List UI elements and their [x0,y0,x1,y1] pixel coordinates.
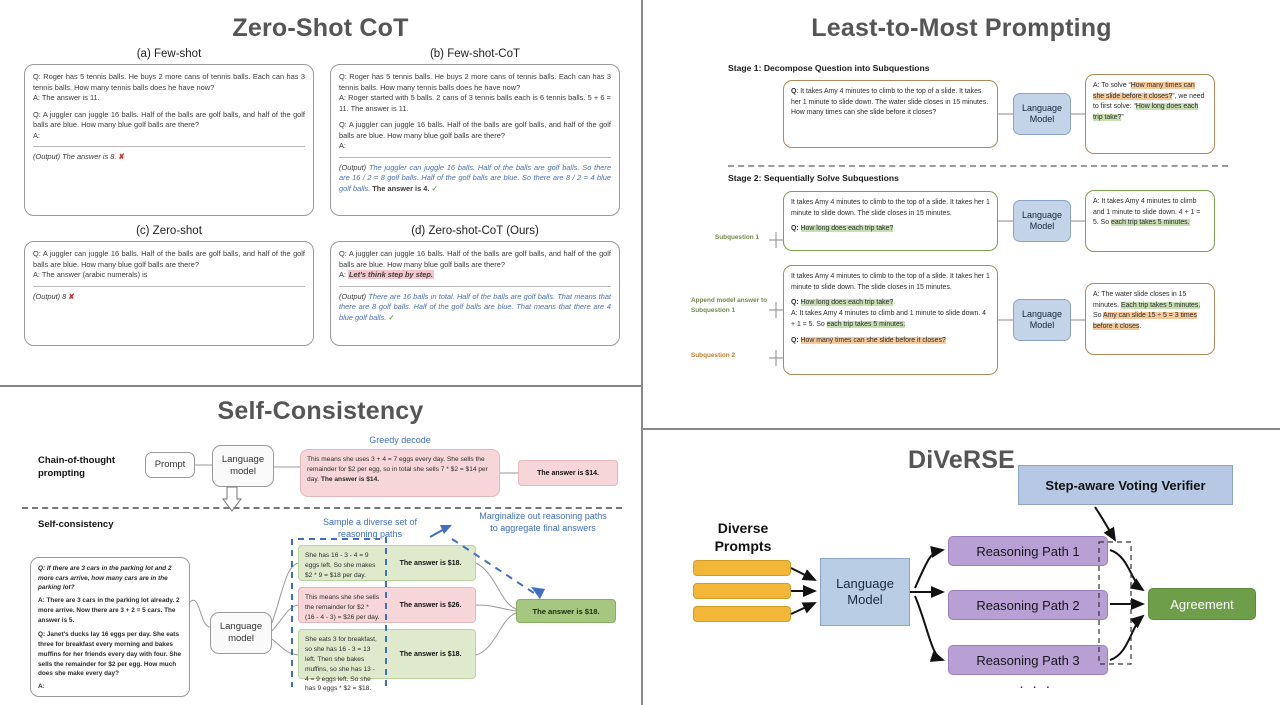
panel-title-zero-shot-cot: Zero-Shot CoT [0,14,641,43]
cell-few-shot-cot: (b) Few-shot-CoT Q: Roger has 5 tennis b… [330,48,620,216]
cell-few-shot: (a) Few-shot Q: Roger has 5 tennis balls… [24,48,314,216]
prompt-text: Q: A juggler can juggle 16 balls. Half o… [33,249,305,270]
row1-subquestion-line: Q: How long does each trip take? [791,224,990,235]
prompt-answer: A: Roger started with 5 balls. 2 cans of… [339,93,611,114]
answer-seg-0: A: To solve “ [1093,82,1131,89]
prompt-answer-2: A: [339,141,611,152]
q-line-0: Q: If there are 3 cars in the parking lo… [38,564,182,593]
prompt-bar-1 [693,560,791,576]
prompt-text-2: Q: A juggler can juggle 16 balls. Half o… [339,120,611,141]
output-line: (Output) The juggler can juggle 16 balls… [339,163,611,195]
q1-prefix: Q: [791,299,799,306]
row2-a1-line: A: It takes Amy 4 minutes to climb and 1… [791,309,990,330]
correct-mark-icon: ✓ [431,184,437,193]
step-aware-voting-verifier: Step-aware Voting Verifier [1018,465,1233,505]
output-label: (Output) [33,292,60,301]
q2-prefix: Q: [791,337,799,344]
panel-title-least-to-most: Least-to-Most Prompting [643,14,1280,43]
stage1-question-bubble: Q: It takes Amy 4 minutes to climb to th… [783,80,998,148]
prompt-text-2: Q: A juggler can juggle 16 balls. Half o… [33,110,305,131]
correct-mark-icon: ✓ [388,313,394,322]
divider [33,146,305,147]
trigger-phrase-highlight: Let's think step by step. [348,270,434,279]
reasoning-path-2-answer: The answer is $26. [386,587,476,623]
q-text-highlight-green: How long does each trip take? [801,225,894,232]
prompt-text: Q: Roger has 5 tennis balls. He buys 2 m… [33,72,305,93]
section-separator [22,507,622,509]
panel-title-self-consistency: Self-Consistency [0,397,641,426]
panel-zero-shot-cot: Zero-Shot CoT (a) Few-shot Q: Roger has … [0,0,641,385]
panel-diverse: DiVeRSE Diverse Prompts Language Model R… [643,430,1280,705]
prompt-bar-2 [693,583,791,599]
output-text: There are 16 balls in total. Half of the… [339,292,611,322]
language-model-node-top: Language model [212,445,274,487]
final-aggregated-answer: The answer is $18. [516,599,616,623]
stage2-row2-question-bubble: It takes Amy 4 minutes to climb to the t… [783,265,998,375]
answer-seg-1-highlight-green: each trip takes 5 minutes. [1111,219,1190,226]
language-model-box: Language Model [820,558,910,626]
example-box: Q: Roger has 5 tennis balls. He buys 2 m… [330,64,620,216]
divider [339,286,611,287]
marginalize-annotation: Marginalize out reasoning paths to aggre… [452,511,634,534]
cell-caption: (d) Zero-shot-CoT (Ours) [330,225,620,237]
a1-seg-1-highlight-green: each trip takes 5 minutes. [827,321,906,328]
stage2-row1-answer-bubble: A: It takes Amy 4 minutes to climb and 1… [1085,190,1215,252]
answer-seg-4: . [1139,323,1141,330]
output-line: (Output) 8 ✘ [33,292,305,303]
answer-seg-4: ” [1121,114,1123,121]
cell-caption: (b) Few-shot-CoT [330,48,620,60]
output-line: (Output) There are 16 balls in total. Ha… [339,292,611,324]
wrong-mark-icon: ✘ [68,292,74,301]
sample-paths-annotation: Sample a diverse set of reasoning paths [290,517,450,540]
output-text: 8 [62,292,66,301]
prompt-answer-2: A: [33,131,305,142]
reasoning-path-1-text: She has 16 - 3 - 4 = 9 eggs left. So she… [298,545,386,581]
question-text: : It takes Amy 4 minutes to climb to the… [791,88,988,116]
reasoning-path-2: Reasoning Path 2 [948,590,1108,620]
greedy-answer-box: The answer is $14. [518,460,618,486]
output-line: (Output) The answer is 8. ✘ [33,152,305,163]
cell-caption: (a) Few-shot [24,48,314,60]
prompt-answer: A: The answer is 11. [33,93,305,104]
q-line-3: A: [38,682,182,692]
answer-seg-1-highlight-green: Each trip takes 5 minutes. [1121,302,1200,309]
cell-caption: (c) Zero-shot [24,225,314,237]
q1-text-highlight-green: How long does each trip take? [801,299,894,306]
prompt-node: Prompt [145,452,195,478]
row2-context: It takes Amy 4 minutes to climb to the t… [791,272,990,293]
q-line-2: Q: Janet's ducks lay 16 eggs per day. Sh… [38,630,182,679]
q-prefix: Q: [791,225,799,232]
stage1-label: Stage 1: Decompose Question into Subques… [728,63,930,73]
diverse-prompts-label: Diverse Prompts [683,520,803,555]
cell-zero-shot: (c) Zero-shot Q: A juggler can juggle 16… [24,225,314,346]
panel-least-to-most: Least-to-Most Prompting Stage 1: Decompo… [643,0,1280,428]
output-label: (Output) [339,292,366,301]
stage2-row1-question-bubble: It takes Amy 4 minutes to climb to the t… [783,191,998,251]
divider [33,286,305,287]
self-consistency-prompt-box: Q: If there are 3 cars in the parking lo… [30,557,190,697]
row1-context: It takes Amy 4 minutes to climb to the t… [791,198,990,219]
example-box: Q: Roger has 5 tennis balls. He buys 2 m… [24,64,314,216]
stage-separator [728,165,1228,167]
reasoning-path-3: Reasoning Path 3 [948,645,1108,675]
reasoning-path-3-text: She eats 3 for breakfast, so she has 16 … [298,629,386,679]
row2-q1-line: Q: How long does each trip take? [791,298,990,309]
language-model-node-bottom: Language model [210,612,272,654]
row2-q2-line: Q: How many times can she slide before i… [791,336,990,347]
stage2-row1-language-model-box: Language Model [1013,200,1071,242]
example-box: Q: A juggler can juggle 16 balls. Half o… [24,241,314,346]
row2-append-label: Append model answer to Subquestion 1 [691,296,767,315]
q-line-1: A: There are 3 cars in the parking lot a… [38,596,182,625]
panel-self-consistency: Self-Consistency Chain-of-thought prompt… [0,387,641,705]
answer-seg-3-highlight-orange: Amy can slide 15 ÷ 5 = 3 times before it… [1093,312,1197,330]
ellipsis-indicator: · · · [1019,678,1052,695]
chain-of-thought-label: Chain-of-thought prompting [38,455,115,481]
stage1-answer-bubble: A: To solve “How many times can she slid… [1085,74,1215,154]
stage2-row2-answer-bubble: A: The water slide closes in 15 minutes.… [1085,283,1215,355]
stage2-label: Stage 2: Sequentially Solve Subquestions [728,173,899,183]
prompt-answer: A: Let's think step by step. [339,270,611,281]
reasoning-path-1-answer: The answer is $18. [386,545,476,581]
example-box: Q: A juggler can juggle 16 balls. Half o… [330,241,620,346]
output-final-answer: The answer is 4. [372,184,429,193]
reasoning-final-answer: The answer is $14. [321,476,379,483]
row1-subquestion-label: Subquestion 1 [715,234,759,241]
agreement-box: Agreement [1148,588,1256,620]
answer-prefix: A: [339,270,346,279]
prompt-text: Q: A juggler can juggle 16 balls. Half o… [339,249,611,270]
prompt-text: Q: Roger has 5 tennis balls. He buys 2 m… [339,72,611,93]
output-label: (Output) [339,163,366,172]
reasoning-path-3-answer: The answer is $18. [386,629,476,679]
q2-text-highlight-orange: How many times can she slide before it c… [801,337,946,344]
prompt-answer: A: The answer (arabic numerals) is [33,270,305,281]
reasoning-path-2-text: This means she she sells the remainder f… [298,587,386,623]
output-label: (Output) [33,152,60,161]
stage2-row2-language-model-box: Language Model [1013,299,1071,341]
row2-subquestion2-label: Subquestion 2 [691,352,735,359]
cell-zero-shot-cot-ours: (d) Zero-shot-CoT (Ours) Q: A juggler ca… [330,225,620,346]
greedy-decode-annotation: Greedy decode [300,435,500,447]
stage1-language-model-box: Language Model [1013,93,1071,135]
self-consistency-label: Self-consistency [38,519,114,532]
greedy-reasoning-box: This means she uses 3 + 4 = 7 eggs every… [300,449,500,497]
answer-seg-2: So [1093,312,1103,319]
prompt-bar-3 [693,606,791,622]
output-text: The answer is 8. [62,152,116,161]
reasoning-path-1: Reasoning Path 1 [948,536,1108,566]
wrong-mark-icon: ✘ [118,152,124,161]
divider [339,157,611,158]
